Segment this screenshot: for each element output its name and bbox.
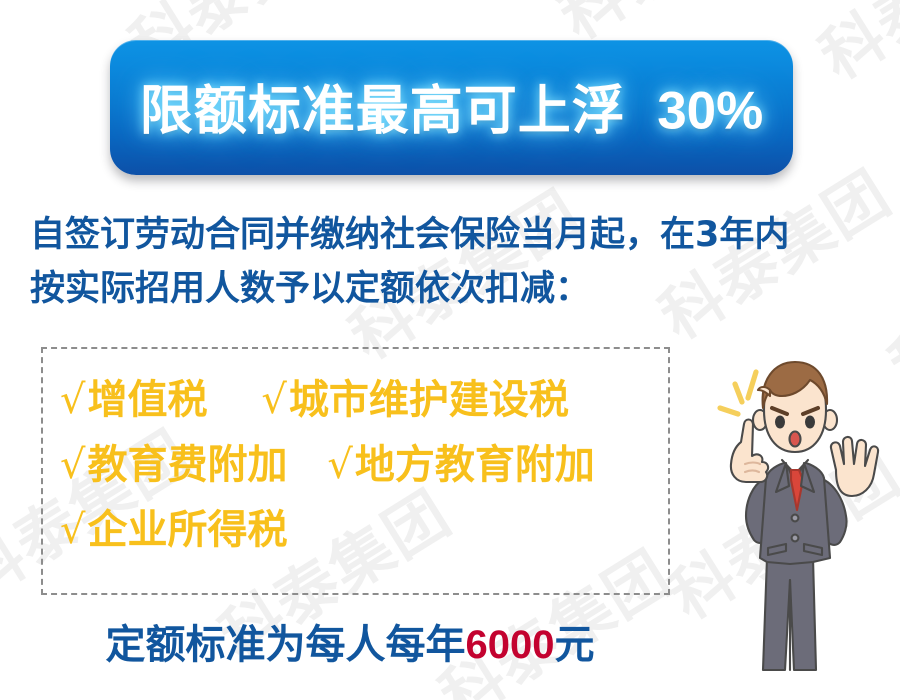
check-icon: √ xyxy=(261,377,287,423)
open-palm-hand xyxy=(831,437,878,496)
eye-left xyxy=(775,416,785,429)
mascot-illustration xyxy=(690,352,900,682)
check-icon: √ xyxy=(60,442,86,488)
tax-name: 教育费附加 xyxy=(88,442,288,488)
list-item: √增值税 √城市维护建设税 xyxy=(60,368,680,433)
tax-list: √增值税 √城市维护建设税 √教育费附加 √地方教育附加 √企业所得税 xyxy=(60,368,680,562)
tax-name: 企业所得税 xyxy=(88,507,288,553)
intro-line-2: 按实际招用人数予以定额依次扣减： xyxy=(30,262,875,316)
bottom-summary: 定额标准为每人每年6000元 xyxy=(0,612,700,670)
banner-title-percent: 30% xyxy=(657,81,763,140)
banner-title: 限额标准最高可上浮 30% xyxy=(110,68,793,144)
jacket-button xyxy=(792,515,799,522)
bottom-prefix: 定额标准为每人每年 xyxy=(106,622,466,668)
intro-paragraph: 自签订劳动合同并缴纳社会保险当月起，在3年内 按实际招用人数予以定额依次扣减： xyxy=(30,208,875,317)
banner-title-cn: 限额标准最高可上浮 xyxy=(140,80,626,141)
tax-name: 增值税 xyxy=(88,377,208,423)
check-icon: √ xyxy=(60,507,86,553)
watermark-text: 科泰集团 xyxy=(800,0,900,96)
list-item: √企业所得税 xyxy=(60,498,680,563)
tax-name: 地方教育附加 xyxy=(355,442,595,488)
check-icon: √ xyxy=(60,377,86,423)
title-banner: 限额标准最高可上浮 30% xyxy=(110,40,793,175)
list-item: √教育费附加 √地方教育附加 xyxy=(60,433,680,498)
poster-canvas: 科泰集团科泰集团科泰集团科泰集团科泰集团科泰集团科泰集团科泰集团科泰集团科泰集团… xyxy=(0,0,900,700)
eye-right xyxy=(805,416,815,429)
jacket-button xyxy=(792,535,799,542)
bottom-amount: 6000 xyxy=(466,623,555,667)
check-icon: √ xyxy=(327,442,353,488)
bottom-suffix: 元 xyxy=(554,622,594,668)
tax-name: 城市维护建设税 xyxy=(289,377,569,423)
mouth xyxy=(790,432,801,447)
businessman-pointing-up-icon xyxy=(690,352,900,682)
intro-line-1: 自签订劳动合同并缴纳社会保险当月起，在3年内 xyxy=(30,208,875,262)
spark-lines-icon xyxy=(720,372,756,414)
